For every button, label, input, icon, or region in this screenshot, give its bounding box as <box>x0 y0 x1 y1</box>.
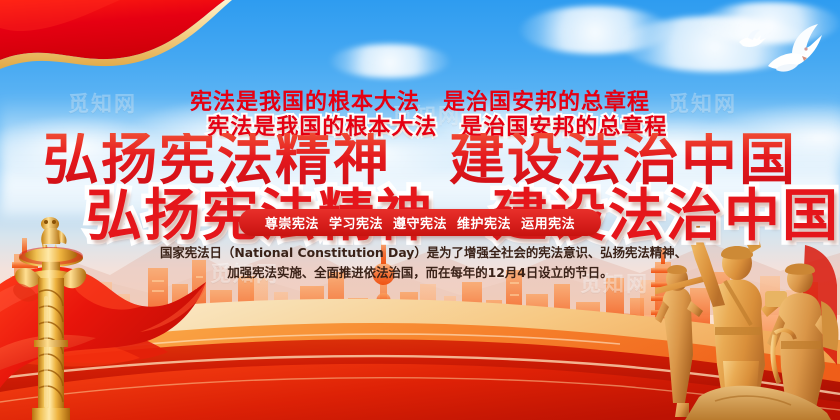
dove-large-icon <box>762 22 832 82</box>
subtitle-fill: 宪法是我国的根本大法 是治国安邦的总章程 <box>0 84 840 116</box>
poster-body-text: 国家宪法日（National Constitution Day）是为了增强全社会… <box>160 243 680 283</box>
slogan-pill-banner: 尊崇宪法 学习宪法 遵守宪法 维护宪法 运用宪法 <box>239 209 601 236</box>
body-line-1: 国家宪法日（National Constitution Day）是为了增强全社会… <box>160 243 680 263</box>
body-line-2: 加强宪法实施、全面推进依法治国，而在每年的12月4日设立的节日。 <box>160 263 680 283</box>
constitution-day-poster: 觅知网 觅知网 觅知网 觅知网 觅知网 宪法是我国的根本大法 是治国安邦的总章程… <box>0 0 840 420</box>
main-title-fill: 弘扬宪法精神 建设法治中国 <box>0 133 840 189</box>
slogan-text: 尊崇宪法 学习宪法 遵守宪法 维护宪法 运用宪法 <box>265 213 575 232</box>
